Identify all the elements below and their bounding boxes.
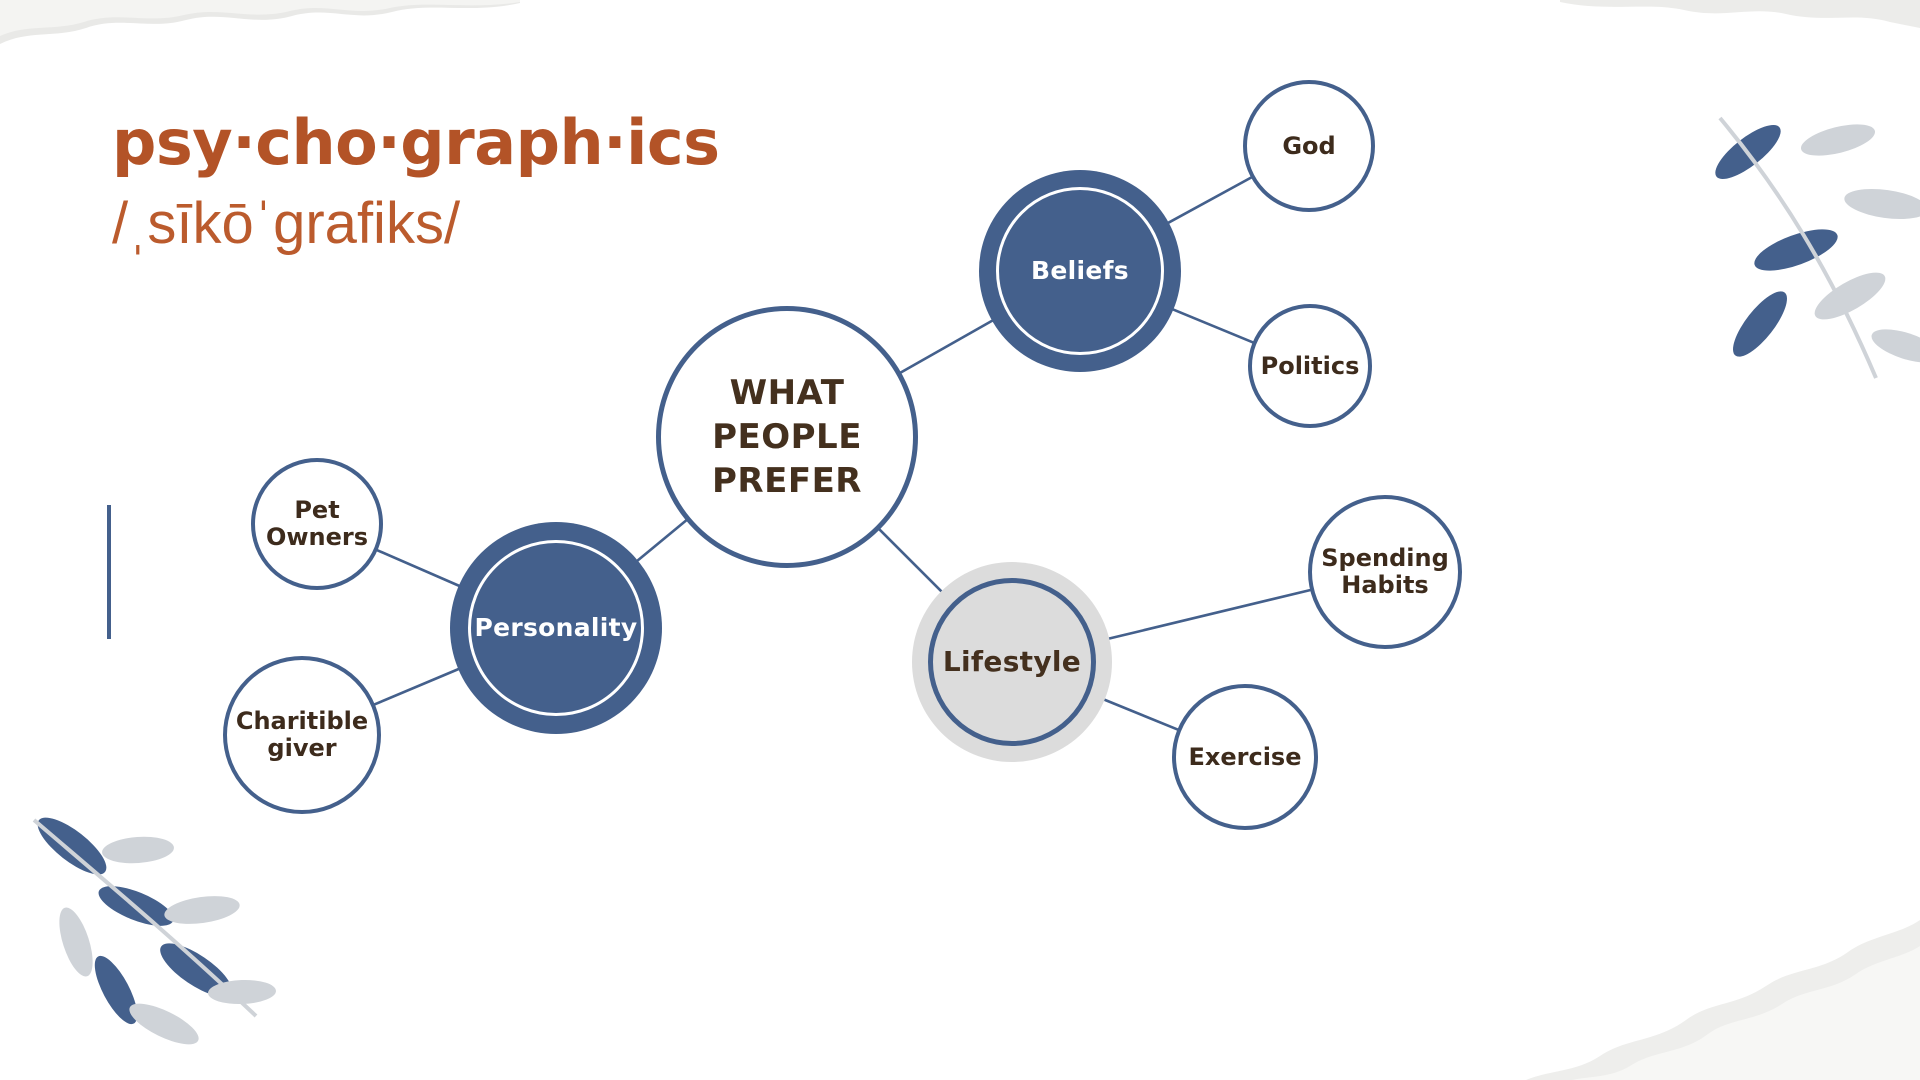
mind-map: WHAT PEOPLE PREFERBeliefsPersonalityLife… bbox=[0, 0, 1920, 1080]
leaf-node-label-god: God bbox=[1274, 133, 1343, 160]
hub-node-personality[interactable]: Personality bbox=[450, 522, 662, 734]
leaf-node-label-pet-owners: Pet Owners bbox=[255, 497, 379, 551]
hub-node-label-lifestyle: Lifestyle bbox=[943, 646, 1081, 677]
leaf-node-label-spending-habits: Spending Habits bbox=[1312, 545, 1458, 599]
hub-node-lifestyle[interactable]: Lifestyle bbox=[912, 562, 1112, 762]
leaf-node-exercise[interactable]: Exercise bbox=[1172, 684, 1318, 830]
center-node[interactable]: WHAT PEOPLE PREFER bbox=[656, 306, 918, 568]
leaf-node-charitible-giver[interactable]: Charitible giver bbox=[223, 656, 381, 814]
leaf-node-spending-habits[interactable]: Spending Habits bbox=[1308, 495, 1462, 649]
center-node-label: WHAT PEOPLE PREFER bbox=[661, 371, 913, 504]
leaf-node-label-exercise: Exercise bbox=[1180, 744, 1309, 771]
hub-node-label-personality: Personality bbox=[474, 614, 637, 642]
slide-canvas: psy·cho·graph·ics /ˌsīkōˈgrafiks/ WHAT P… bbox=[0, 0, 1920, 1080]
leaf-node-pet-owners[interactable]: Pet Owners bbox=[251, 458, 383, 590]
leaf-node-label-politics: Politics bbox=[1253, 353, 1368, 380]
leaf-node-politics[interactable]: Politics bbox=[1248, 304, 1372, 428]
hub-node-beliefs[interactable]: Beliefs bbox=[979, 170, 1181, 372]
leaf-node-label-charitible-giver: Charitible giver bbox=[227, 708, 377, 762]
hub-node-label-beliefs: Beliefs bbox=[1031, 257, 1129, 285]
leaf-node-god[interactable]: God bbox=[1243, 80, 1375, 212]
